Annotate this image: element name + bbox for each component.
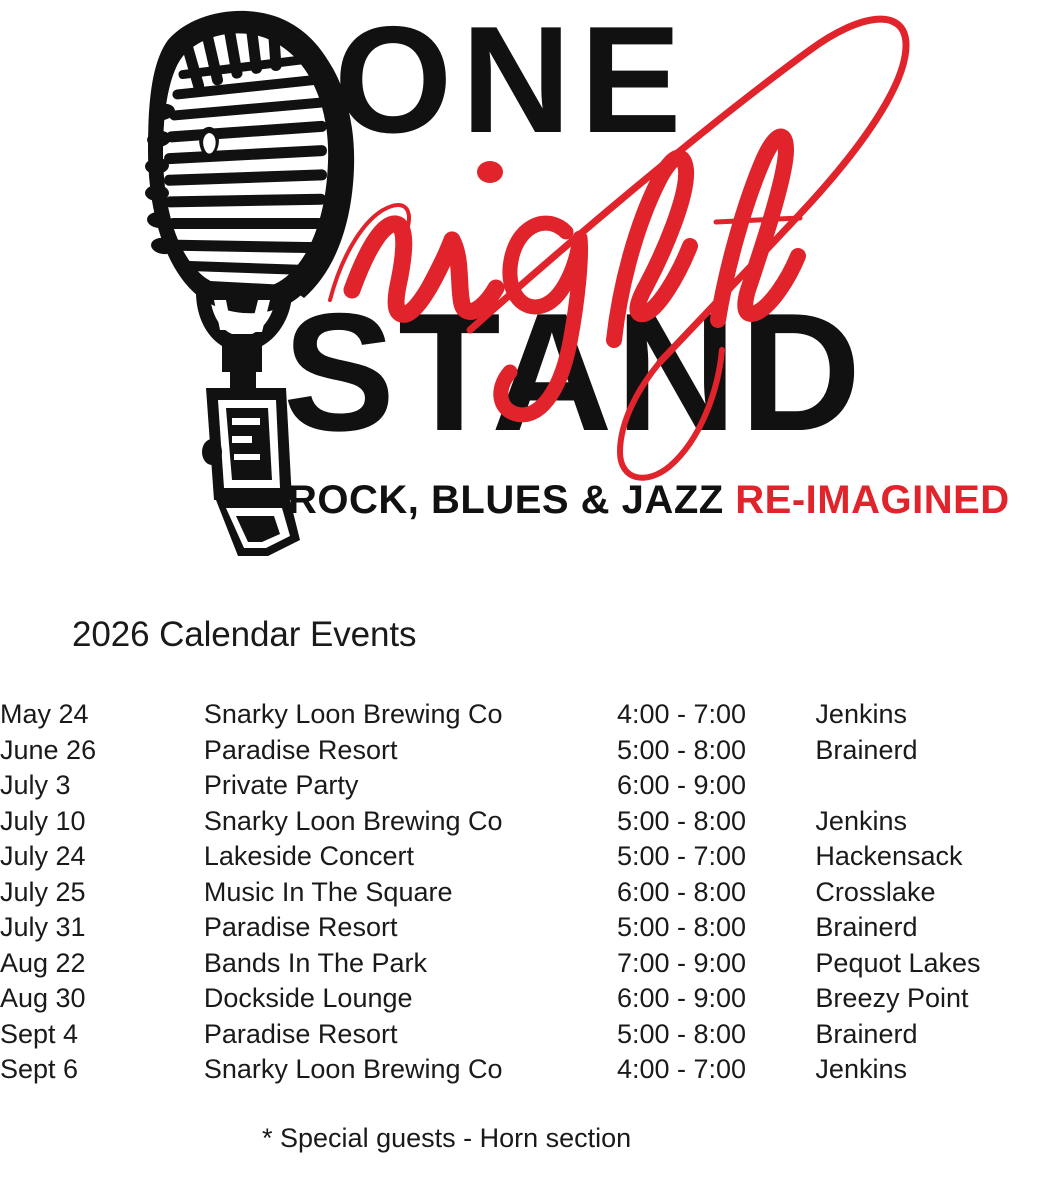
event-date: June 26 [0,733,204,769]
event-venue: Paradise Resort [204,733,617,769]
event-date: Aug 30 [0,981,204,1017]
event-venue: Snarky Loon Brewing Co [204,1052,617,1088]
event-time: 7:00 - 9:00 [617,946,815,982]
table-row: June 26Paradise Resort5:00 - 8:00Brainer… [0,733,1044,769]
tagline-red-part: RE-IMAGINED [735,478,1009,522]
event-location: Brainerd [815,910,1044,946]
event-venue: Paradise Resort [204,1017,617,1053]
event-time: 6:00 - 9:00 [617,981,815,1017]
event-time: 5:00 - 8:00 [617,733,815,769]
event-date: July 25 [0,875,204,911]
event-time: 5:00 - 8:00 [617,1017,815,1053]
event-location: Brainerd [815,733,1044,769]
table-row: July 10Snarky Loon Brewing Co5:00 - 8:00… [0,804,1044,840]
event-location: Brainerd [815,1017,1044,1053]
table-row: July 3Private Party6:00 - 9:00 [0,768,1044,804]
event-location: Hackensack [815,839,1044,875]
event-time: 6:00 - 9:00 [617,768,815,804]
event-date: July 10 [0,804,204,840]
event-location: Breezy Point [815,981,1044,1017]
event-time: 5:00 - 8:00 [617,910,815,946]
event-date: July 31 [0,910,204,946]
events-table: May 24Snarky Loon Brewing Co4:00 - 7:00J… [0,697,1044,1088]
event-location [815,768,1044,804]
event-time: 6:00 - 8:00 [617,875,815,911]
table-row: May 24Snarky Loon Brewing Co4:00 - 7:00J… [0,697,1044,733]
table-row: Sept 4Paradise Resort5:00 - 8:00Brainerd [0,1017,1044,1053]
event-location: Jenkins [815,804,1044,840]
event-date: Sept 4 [0,1017,204,1053]
event-location: Crosslake [815,875,1044,911]
event-venue: Lakeside Concert [204,839,617,875]
event-venue: Bands In The Park [204,946,617,982]
table-row: Aug 30Dockside Lounge6:00 - 9:00Breezy P… [0,981,1044,1017]
event-location: Jenkins [815,1052,1044,1088]
event-time: 4:00 - 7:00 [617,697,815,733]
event-location: Jenkins [815,697,1044,733]
table-row: July 25Music In The Square6:00 - 8:00Cro… [0,875,1044,911]
event-time: 5:00 - 7:00 [617,839,815,875]
table-row: July 24Lakeside Concert5:00 - 7:00Hacken… [0,839,1044,875]
events-table-body: May 24Snarky Loon Brewing Co4:00 - 7:00J… [0,697,1044,1088]
event-time: 5:00 - 8:00 [617,804,815,840]
band-logo: ONE STAND [0,0,1044,580]
event-venue: Private Party [204,768,617,804]
event-location: Pequot Lakes [815,946,1044,982]
logo-tagline: ROCK, BLUES & JAZZ RE-IMAGINED [288,478,1010,522]
page-title: 2026 Calendar Events [72,615,416,655]
event-date: May 24 [0,697,204,733]
table-row: July 31Paradise Resort5:00 - 8:00Brainer… [0,910,1044,946]
event-venue: Snarky Loon Brewing Co [204,804,617,840]
event-date: July 3 [0,768,204,804]
event-venue: Paradise Resort [204,910,617,946]
logo-artwork: ONE STAND [0,0,1044,580]
event-time: 4:00 - 7:00 [617,1052,815,1088]
event-date: Sept 6 [0,1052,204,1088]
logo-word-one: ONE [334,0,690,165]
event-venue: Snarky Loon Brewing Co [204,697,617,733]
table-row: Sept 6Snarky Loon Brewing Co4:00 - 7:00J… [0,1052,1044,1088]
event-venue: Dockside Lounge [204,981,617,1017]
events-footnote: * Special guests - Horn section [262,1123,631,1154]
event-venue: Music In The Square [204,875,617,911]
event-date: July 24 [0,839,204,875]
event-date: Aug 22 [0,946,204,982]
tagline-black-part: ROCK, BLUES & JAZZ [288,478,735,522]
table-row: Aug 22Bands In The Park7:00 - 9:00Pequot… [0,946,1044,982]
